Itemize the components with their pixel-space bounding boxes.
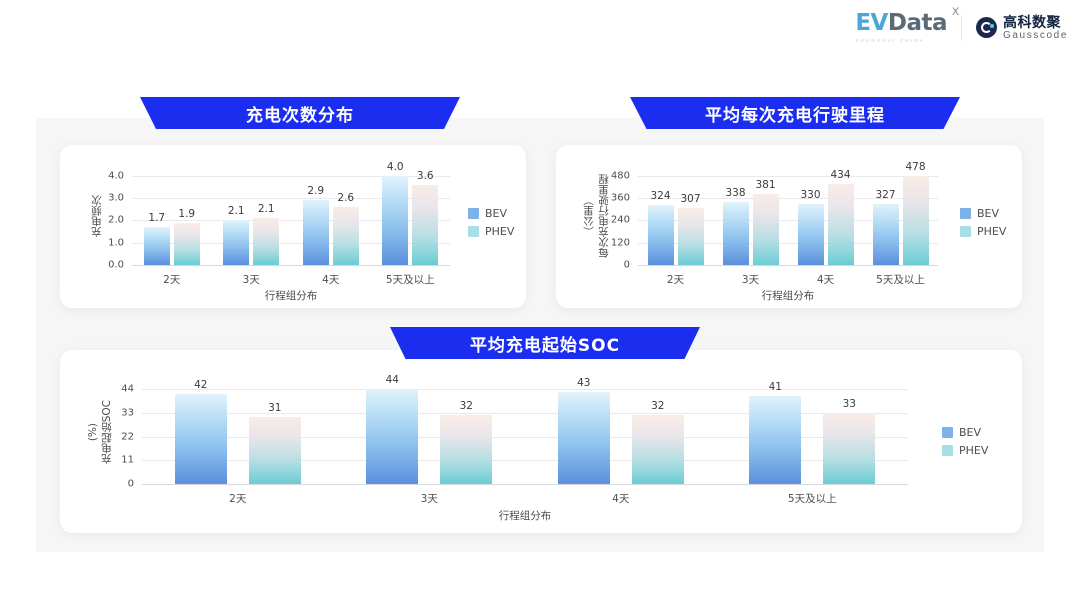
bar-value-label: 330 <box>800 189 820 201</box>
legend-item-phev[interactable]: PHEV <box>960 225 1006 238</box>
x-axis-tick: 4天 <box>817 272 834 287</box>
legend-swatch-bev <box>942 427 953 438</box>
y-axis-tick: 33 <box>121 408 134 419</box>
x-axis-tick: 2天 <box>229 491 246 506</box>
bar-value-label: 2.1 <box>258 203 275 215</box>
y-axis-tick: 480 <box>611 170 630 181</box>
legend-label: BEV <box>485 207 507 220</box>
y-axis-tick: 4.0 <box>108 170 124 181</box>
bar-phev[interactable] <box>333 207 359 265</box>
y-axis-label: 充电起始SOC(%) <box>84 380 116 484</box>
evdata-superscript-icon: x <box>952 5 959 18</box>
brand-logo-bar: EVDatax SHANGHAI CHINA 高科数聚 Gausscode <box>855 12 1068 43</box>
chart-title-2: 平均每次充电行驶里程 <box>705 101 885 126</box>
bar-value-label: 43 <box>577 377 590 389</box>
x-axis-tick: 3天 <box>421 491 438 506</box>
legend-label: BEV <box>959 426 981 439</box>
y-axis-tick: 360 <box>611 193 630 204</box>
evdata-wordmark: EVDatax <box>855 12 947 35</box>
y-axis-label-line: （公里） <box>581 195 596 237</box>
bar-phev[interactable] <box>412 185 438 265</box>
bar-bev[interactable] <box>798 204 824 265</box>
legend-swatch-phev <box>960 226 971 237</box>
bar-value-label: 2.6 <box>337 192 354 204</box>
chart-legend: BEVPHEV <box>942 426 988 457</box>
y-axis-tick: 2.0 <box>108 215 124 226</box>
grid-line <box>638 176 938 177</box>
bar-value-label: 42 <box>194 379 207 391</box>
bar-value-label: 1.7 <box>148 212 165 224</box>
bar-value-label: 3.6 <box>417 170 434 182</box>
grid-line <box>142 484 908 485</box>
bar-value-label: 31 <box>268 402 281 414</box>
bar-value-label: 41 <box>769 381 782 393</box>
bar-value-label: 478 <box>905 161 925 173</box>
bar-phev[interactable] <box>753 194 779 265</box>
x-axis-tick: 5天及以上 <box>386 272 435 287</box>
legend-item-bev[interactable]: BEV <box>960 207 1006 220</box>
evdata-tagline: SHANGHAI CHINA <box>855 38 925 43</box>
y-axis-tick: 0.0 <box>108 260 124 271</box>
bar-bev[interactable] <box>366 389 418 484</box>
gausscode-g-icon <box>976 17 997 38</box>
legend-swatch-phev <box>942 445 953 456</box>
evdata-logo: EVDatax SHANGHAI CHINA <box>855 12 947 43</box>
logo-divider <box>961 15 962 41</box>
bar-value-label: 2.9 <box>307 185 324 197</box>
slide-root: EVDatax SHANGHAI CHINA 高科数聚 Gausscode 充电… <box>0 0 1080 608</box>
y-axis-tick: 240 <box>611 215 630 226</box>
bar-value-label: 327 <box>875 189 895 201</box>
y-axis-label-line: 充电起始SOC <box>99 400 114 464</box>
legend-label: PHEV <box>485 225 514 238</box>
x-axis-tick: 4天 <box>612 491 629 506</box>
bar-value-label: 2.1 <box>228 205 245 217</box>
y-axis-tick: 22 <box>121 431 134 442</box>
bar-value-label: 32 <box>460 400 473 412</box>
chart-title-banner-3: 平均充电起始SOC <box>390 327 700 359</box>
bar-value-label: 381 <box>755 179 775 191</box>
bar-value-label: 44 <box>386 374 399 386</box>
x-axis-label: 行程组分布 <box>762 288 815 303</box>
y-axis-tick: 11 <box>121 455 134 466</box>
x-axis-tick: 4天 <box>322 272 339 287</box>
bar-phev[interactable] <box>253 218 279 265</box>
bar-phev[interactable] <box>823 413 875 484</box>
bar-value-label: 324 <box>650 190 670 202</box>
legend-swatch-bev <box>468 208 479 219</box>
x-axis-tick: 5天及以上 <box>788 491 837 506</box>
chart-legend: BEVPHEV <box>960 207 1006 238</box>
bar-phev[interactable] <box>174 223 200 265</box>
bar-bev[interactable] <box>648 205 674 265</box>
chart-area-distance-per-charge: 每次充电行驶里程（公里）01202403604803243072天3383813… <box>556 145 1022 308</box>
bar-value-label: 32 <box>651 400 664 412</box>
legend-item-bev[interactable]: BEV <box>468 207 514 220</box>
x-axis-label: 行程组分布 <box>499 508 552 523</box>
y-axis-label: 充电频次 <box>86 167 106 265</box>
y-axis-tick: 3.0 <box>108 193 124 204</box>
y-axis-tick: 0 <box>128 479 134 490</box>
bar-phev[interactable] <box>903 176 929 265</box>
chart-title-banner-2: 平均每次充电行驶里程 <box>630 97 960 129</box>
bar-value-label: 1.9 <box>178 208 195 220</box>
y-axis-tick: 0 <box>624 260 630 271</box>
bar-bev[interactable] <box>382 176 408 265</box>
bar-phev[interactable] <box>678 208 704 265</box>
bar-bev[interactable] <box>558 392 610 484</box>
y-axis-label-line: 每次充电行驶里程 <box>596 174 611 258</box>
x-axis-label: 行程组分布 <box>265 288 318 303</box>
y-axis-tick: 44 <box>121 384 134 395</box>
legend-item-phev[interactable]: PHEV <box>942 444 988 457</box>
chart-area-charging-frequency: 充电频次0.01.02.03.04.01.71.92天2.12.13天2.92.… <box>60 145 526 308</box>
bar-bev[interactable] <box>749 396 801 484</box>
bar-bev[interactable] <box>144 227 170 265</box>
legend-label: PHEV <box>977 225 1006 238</box>
chart-title-banner-1: 充电次数分布 <box>140 97 460 129</box>
gausscode-en-name: Gausscode <box>1003 31 1068 41</box>
bar-phev[interactable] <box>828 184 854 265</box>
grid-line <box>638 265 938 266</box>
bar-value-label: 338 <box>725 187 745 199</box>
bar-bev[interactable] <box>175 394 227 484</box>
chart-title-3: 平均充电起始SOC <box>470 331 620 356</box>
chart-title-1: 充电次数分布 <box>246 101 354 126</box>
legend-swatch-phev <box>468 226 479 237</box>
bar-value-label: 33 <box>843 398 856 410</box>
legend-item-bev[interactable]: BEV <box>942 426 988 439</box>
bar-phev[interactable] <box>632 415 684 484</box>
x-axis-tick: 3天 <box>243 272 260 287</box>
legend-label: PHEV <box>959 444 988 457</box>
bar-bev[interactable] <box>723 202 749 265</box>
x-axis-tick: 3天 <box>742 272 759 287</box>
y-axis-label-line: (%) <box>87 423 99 441</box>
bar-bev[interactable] <box>223 220 249 265</box>
legend-swatch-bev <box>960 208 971 219</box>
x-axis-tick: 5天及以上 <box>876 272 925 287</box>
bar-bev[interactable] <box>873 204 899 265</box>
y-axis-label-line: 充电频次 <box>89 195 104 237</box>
bar-phev[interactable] <box>249 417 301 484</box>
chart-legend: BEVPHEV <box>468 207 514 238</box>
bar-value-label: 4.0 <box>387 161 404 173</box>
x-axis-tick: 2天 <box>667 272 684 287</box>
evdata-suffix: Data <box>888 10 947 36</box>
bar-value-label: 307 <box>680 193 700 205</box>
gausscode-logo: 高科数聚 Gausscode <box>976 15 1068 41</box>
evdata-prefix: EV <box>855 10 888 36</box>
legend-label: BEV <box>977 207 999 220</box>
bar-bev[interactable] <box>303 200 329 265</box>
grid-line <box>132 265 450 266</box>
grid-line <box>142 389 908 390</box>
x-axis-tick: 2天 <box>163 272 180 287</box>
y-axis-label: 每次充电行驶里程（公里） <box>580 167 612 265</box>
y-axis-tick: 1.0 <box>108 237 124 248</box>
legend-item-phev[interactable]: PHEV <box>468 225 514 238</box>
bar-value-label: 434 <box>830 169 850 181</box>
chart-area-start-soc: 充电起始SOC(%)01122334442312天44323天43324天413… <box>60 350 1022 533</box>
gausscode-cn-name: 高科数聚 <box>1003 15 1068 29</box>
gausscode-text: 高科数聚 Gausscode <box>1003 15 1068 41</box>
y-axis-tick: 120 <box>611 237 630 248</box>
bar-phev[interactable] <box>440 415 492 484</box>
